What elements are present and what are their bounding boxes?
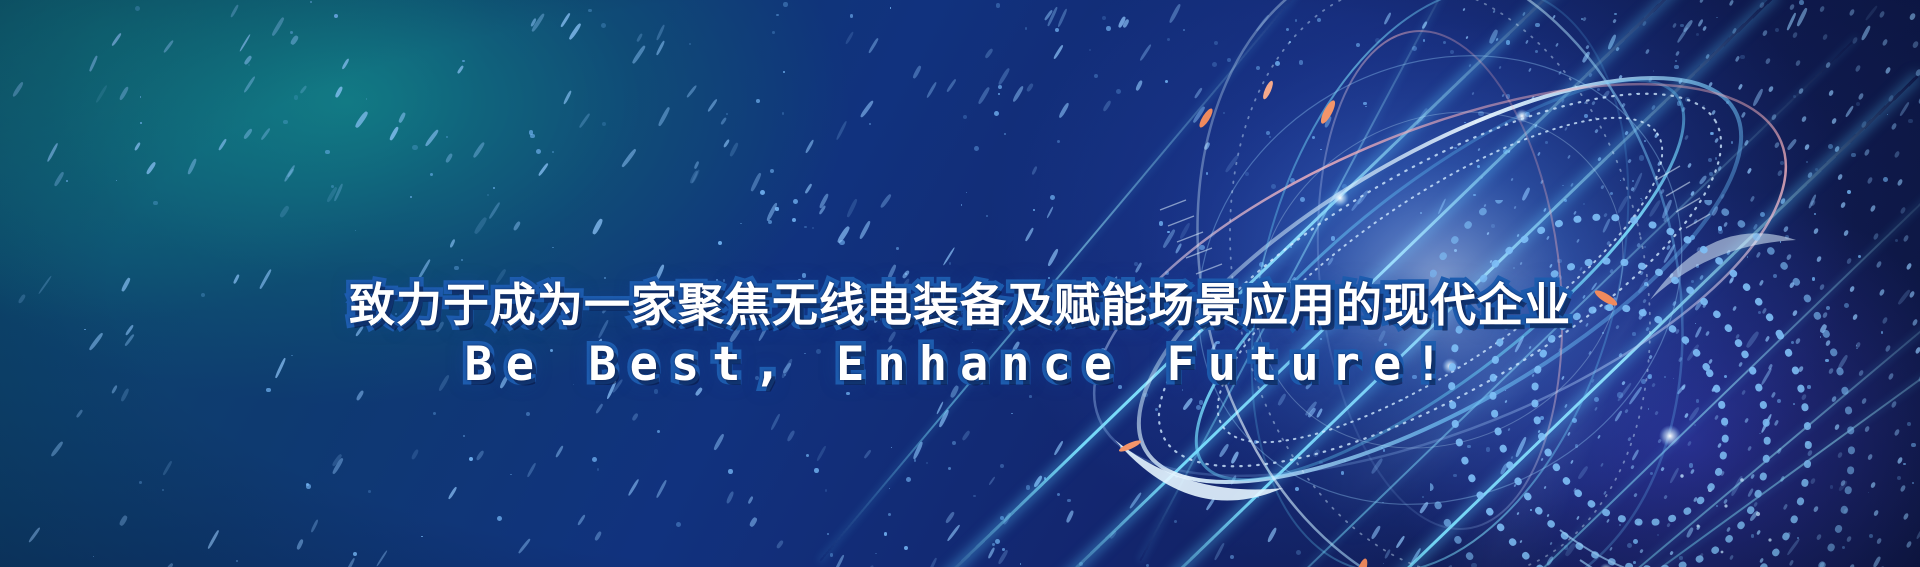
vignette-overlay	[0, 0, 1920, 567]
headline-block: 致力于成为一家聚焦无线电装备及赋能场景应用的现代企业 Be Best, Enha…	[0, 282, 1920, 388]
dot-ring-halo	[1430, 200, 1920, 567]
particle-dot-field	[0, 0, 1920, 567]
hero-banner: 致力于成为一家聚焦无线电装备及赋能场景应用的现代企业 Be Best, Enha…	[0, 0, 1920, 567]
radial-ray-glow	[1190, 0, 1920, 567]
tech-orbit-sphere-graphic	[1010, 0, 1870, 567]
diagonal-light-beams	[0, 0, 1920, 567]
headline-chinese: 致力于成为一家聚焦无线电装备及赋能场景应用的现代企业	[0, 282, 1920, 328]
headline-english: Be Best, Enhance Future!	[0, 341, 1920, 388]
